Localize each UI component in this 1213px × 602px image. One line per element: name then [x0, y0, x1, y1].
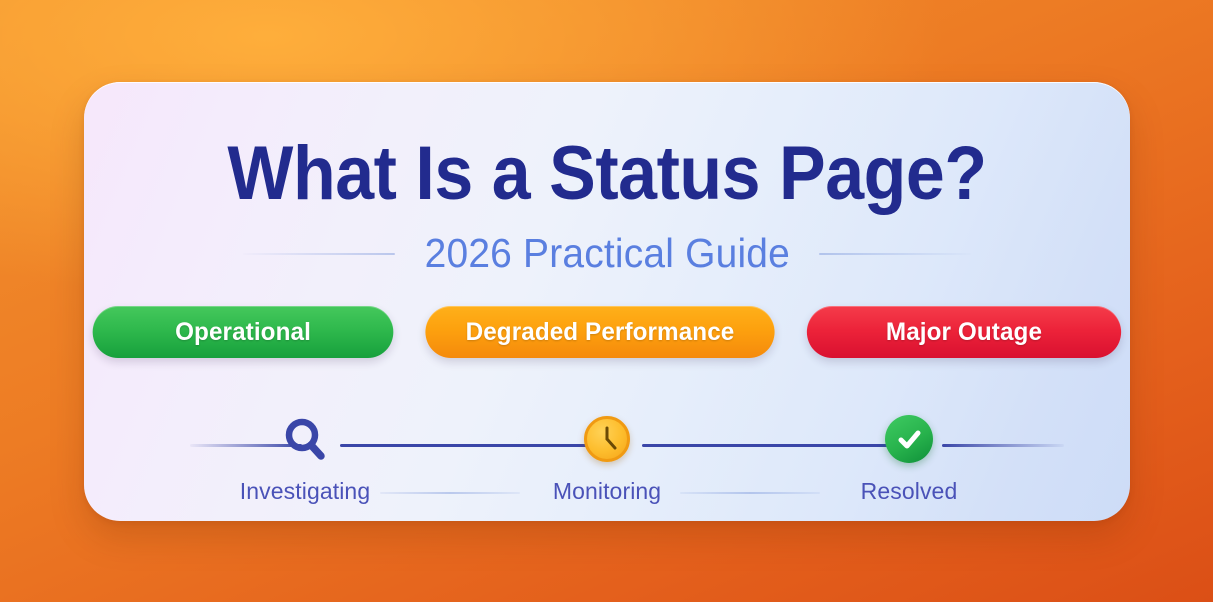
timeline-step-label: Monitoring — [553, 478, 661, 505]
timeline-step-resolved[interactable]: Resolved — [874, 412, 944, 505]
status-badge-label: Operational — [175, 318, 311, 347]
page-subtitle: 2026 Practical Guide — [424, 230, 789, 277]
status-badge-label: Degraded Performance — [466, 318, 735, 347]
status-badge-label: Major Outage — [886, 318, 1042, 347]
timeline-step-label: Resolved — [861, 478, 958, 505]
magnifier-icon — [278, 412, 332, 466]
clock-icon — [580, 412, 634, 466]
subtitle-rule-right — [819, 253, 971, 255]
check-circle-icon — [882, 412, 936, 466]
status-badge-operational[interactable]: Operational — [93, 306, 394, 358]
subtitle-row: 2026 Practical Guide — [84, 230, 1130, 277]
timeline-step-investigating[interactable]: Investigating — [270, 412, 340, 505]
status-badge-group: Operational Degraded Performance Major O… — [84, 306, 1130, 358]
timeline-step-monitoring[interactable]: Monitoring — [572, 412, 642, 505]
status-badge-major-outage[interactable]: Major Outage — [807, 306, 1121, 358]
page-title: What Is a Status Page? — [126, 136, 1088, 212]
status-badge-degraded-performance[interactable]: Degraded Performance — [425, 306, 774, 358]
subtitle-rule-left — [243, 253, 395, 255]
incident-timeline: Investigating Monitoring — [190, 394, 1024, 494]
timeline-steps: Investigating Monitoring — [190, 412, 1024, 505]
timeline-step-label: Investigating — [240, 478, 370, 505]
status-page-card: What Is a Status Page? 2026 Practical Gu… — [84, 82, 1130, 521]
